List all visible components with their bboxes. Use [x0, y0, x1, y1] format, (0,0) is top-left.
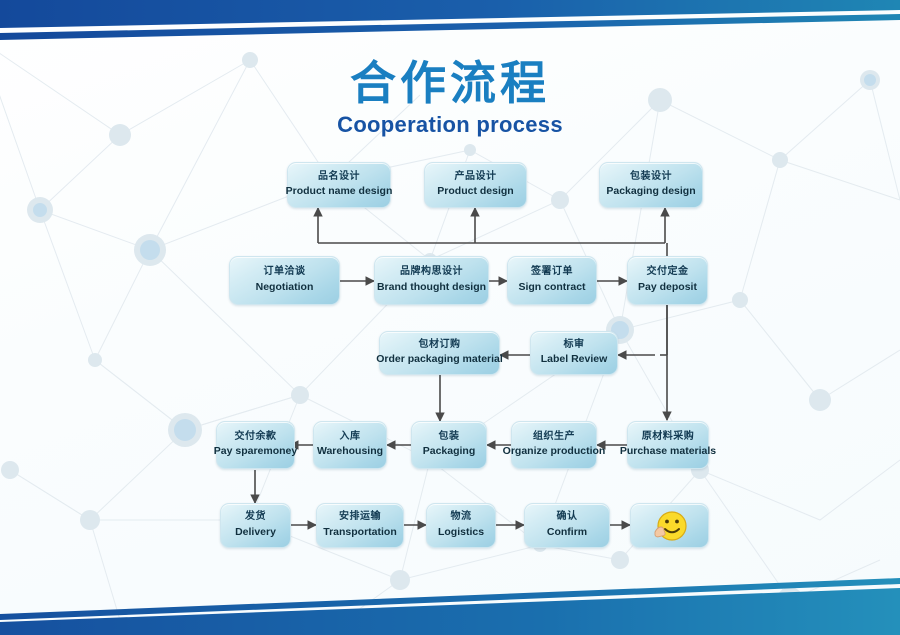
node-label-cn: 产品设计	[455, 171, 497, 184]
node-label-cn: 品牌构思设计	[400, 266, 463, 279]
node-label-cn: 签署订单	[531, 266, 573, 279]
cooperation-process-poster: 合作流程 Cooperation process	[0, 0, 900, 635]
node-purchase-materials[interactable]: 原材料采购 Purchase materials	[627, 421, 709, 469]
node-label-cn: 发货	[245, 511, 266, 524]
node-label-review[interactable]: 标审 Label Review	[530, 331, 618, 375]
node-label-cn: 交付余款	[235, 431, 277, 444]
title-english: Cooperation process	[0, 112, 900, 138]
title-chinese: 合作流程	[0, 58, 900, 110]
node-label-en: Confirm	[547, 526, 587, 540]
node-label-en: Negotiation	[256, 281, 314, 295]
node-confirm[interactable]: 确认 Confirm	[524, 503, 610, 548]
node-label-en: Pay deposit	[638, 281, 697, 295]
node-label-en: Pay sparemoney	[214, 445, 297, 459]
node-label-cn: 包材订购	[419, 339, 461, 352]
node-label-cn: 交付定金	[647, 266, 689, 279]
node-delivery[interactable]: 发货 Delivery	[220, 503, 291, 548]
node-warehousing[interactable]: 入库 Warehousing	[313, 421, 387, 469]
node-label-en: Brand thought design	[377, 281, 486, 295]
smiley-face-icon	[651, 508, 689, 544]
node-pay-sparemoney[interactable]: 交付余款 Pay sparemoney	[216, 421, 295, 469]
node-label-cn: 物流	[451, 511, 472, 524]
node-logistics[interactable]: 物流 Logistics	[426, 503, 496, 548]
node-sign-contract[interactable]: 签署订单 Sign contract	[507, 256, 597, 305]
node-label-en: Delivery	[235, 526, 276, 540]
node-negotiation[interactable]: 订单洽谈 Negotiation	[229, 256, 340, 305]
node-label-en: Warehousing	[317, 445, 383, 459]
node-label-cn: 确认	[557, 511, 578, 524]
node-label-en: Purchase materials	[620, 445, 716, 459]
node-finish-smiley[interactable]	[630, 503, 709, 548]
node-label-en: Packaging design	[606, 185, 695, 199]
node-product-design[interactable]: 产品设计 Product design	[424, 162, 527, 208]
node-label-en: Product name design	[286, 185, 393, 199]
node-label-cn: 组织生产	[533, 431, 575, 444]
node-label-en: Sign contract	[518, 281, 585, 295]
node-pay-deposit[interactable]: 交付定金 Pay deposit	[627, 256, 708, 305]
node-organize-production[interactable]: 组织生产 Organize production	[511, 421, 597, 469]
node-label-en: Order packaging material	[376, 353, 503, 367]
node-label-cn: 入库	[340, 431, 361, 444]
node-label-en: Product design	[437, 185, 513, 199]
node-label-en: Packaging	[423, 445, 476, 459]
page-title: 合作流程 Cooperation process	[0, 58, 900, 138]
node-label-cn: 标审	[564, 339, 585, 352]
node-packaging-design[interactable]: 包装设计 Packaging design	[599, 162, 703, 208]
node-product-name-design[interactable]: 品名设计 Product name design	[287, 162, 391, 208]
node-label-cn: 安排运输	[339, 511, 381, 524]
node-order-packaging-material[interactable]: 包材订购 Order packaging material	[379, 331, 500, 375]
node-label-cn: 品名设计	[318, 171, 360, 184]
node-label-cn: 订单洽谈	[264, 266, 306, 279]
node-label-cn: 包装	[439, 431, 460, 444]
node-transportation[interactable]: 安排运输 Transportation	[316, 503, 404, 548]
node-label-en: Transportation	[323, 526, 397, 540]
node-label-cn: 原材料采购	[642, 431, 695, 444]
node-label-cn: 包装设计	[630, 171, 672, 184]
node-packaging[interactable]: 包装 Packaging	[411, 421, 487, 469]
node-brand-thought-design[interactable]: 品牌构思设计 Brand thought design	[374, 256, 489, 305]
node-label-en: Logistics	[438, 526, 484, 540]
node-label-en: Label Review	[541, 353, 608, 367]
node-label-en: Organize production	[503, 445, 606, 459]
